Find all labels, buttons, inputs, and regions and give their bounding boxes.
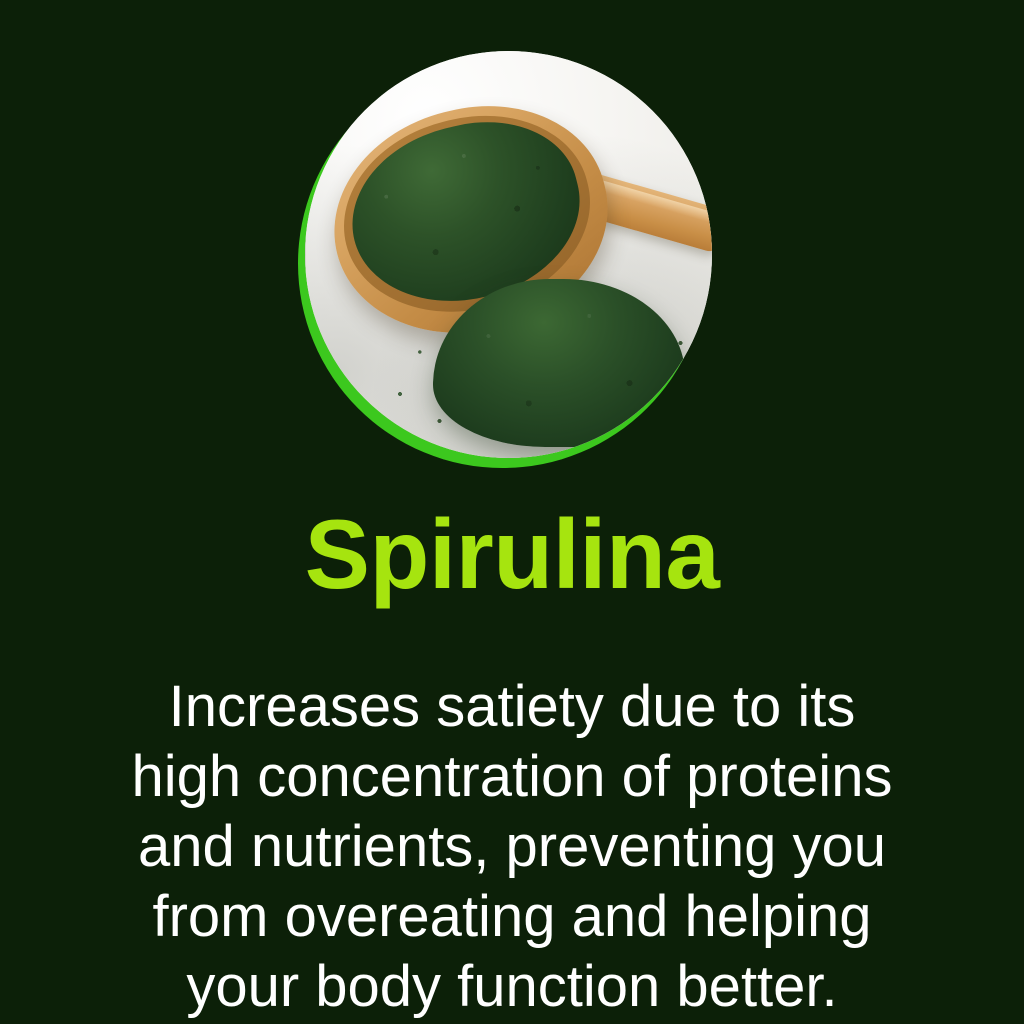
spirulina-photo-block [305,51,712,458]
description-line: your body function better. [62,952,962,1022]
description-line: Increases satiety due to its [62,672,962,742]
description-line: from overeating and helping [62,882,962,952]
description-line: high concentration of proteins [62,742,962,812]
page-title: Spirulina [0,505,1024,603]
description-text: Increases satiety due to its high concen… [62,672,962,1022]
spirulina-photo [305,51,712,458]
spirulina-info-card: Spirulina Increases satiety due to its h… [0,0,1024,1024]
description-line: and nutrients, preventing you [62,812,962,882]
